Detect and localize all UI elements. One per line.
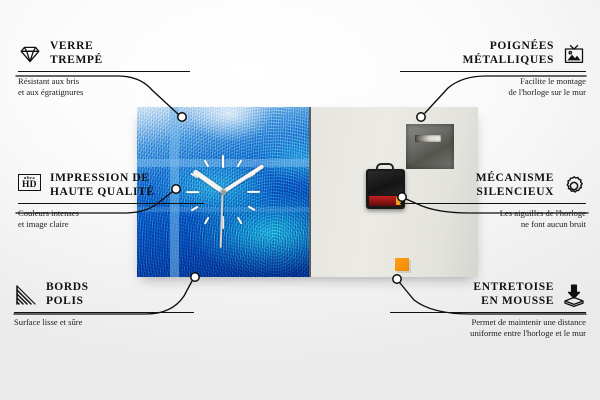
node-poignees [417,113,425,121]
feature-desc: Couleurs intenses et image claire [18,208,204,230]
divider [400,71,586,72]
divider [400,203,586,204]
feature-desc: Résistant aux bris et aux égratignures [18,76,190,98]
feature-verre-trempe: VERRE TREMPÉ Résistant aux bris et aux é… [18,40,190,99]
node-bords-polis [191,273,199,281]
feature-mecanisme-silencieux: MÉCANISME SILENCIEUX Les aiguilles de l'… [400,172,586,231]
feature-entretoise-en-mousse: ENTRETOISE EN MOUSSE Permet de maintenir… [390,281,586,340]
divider [18,203,204,204]
feature-title: POIGNÉES MÉTALLIQUES [463,40,554,67]
feature-desc: Permet de maintenir une distance uniform… [390,317,586,339]
feature-poignees-metalliques: POIGNÉES MÉTALLIQUES Facilite le montage… [400,40,586,99]
feature-title: VERRE TREMPÉ [50,40,103,67]
polished-edge-icon [14,283,38,307]
divider [14,312,194,313]
divider [18,71,190,72]
picture-hanger-icon [562,42,586,66]
feature-title: BORDS POLIS [46,281,89,308]
gear-icon [562,174,586,198]
feature-desc: Les aiguilles de l'horloge ne font aucun… [400,208,586,230]
feature-title: ENTRETOISE EN MOUSSE [473,281,554,308]
press-down-pad-icon [562,283,586,307]
feature-title: MÉCANISME SILENCIEUX [476,172,554,199]
feature-bords-polis: BORDS POLIS Surface lisse et sûre [14,281,194,328]
feature-title: IMPRESSION DE HAUTE QUALITÉ [50,172,155,199]
divider [390,312,586,313]
feature-desc: Facilite le montage de l'horloge sur le … [400,76,586,98]
ultra-hd-icon-bottom: HD [22,181,37,191]
node-verre-trempe [178,113,186,121]
ultra-hd-icon: ultra HD [18,174,42,198]
diamond-icon [18,42,42,66]
feature-desc: Surface lisse et sûre [14,317,194,328]
feature-impression-haute-qualite: ultra HD IMPRESSION DE HAUTE QUALITÉ Cou… [18,172,204,231]
